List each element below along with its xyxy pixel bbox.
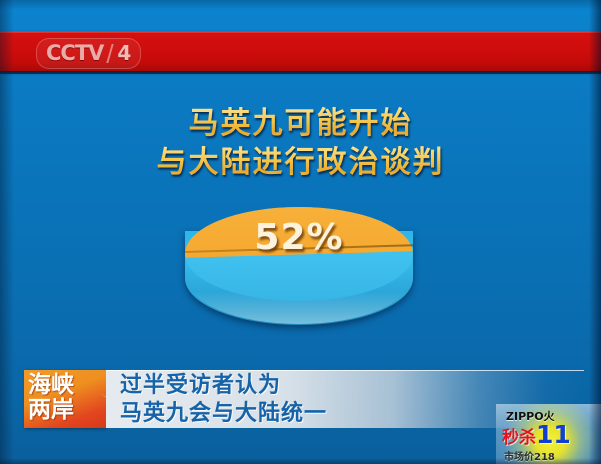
channel-number: 4	[117, 41, 131, 65]
cctv-channel-logo: CCTV 4	[36, 38, 141, 69]
ad-market-price: 市场价218	[504, 448, 555, 463]
band-highlight	[0, 31, 601, 33]
caption-line-1: 过半受访者认为	[120, 370, 584, 400]
ad-flash-sale-label: 秒杀	[502, 428, 536, 448]
page-title: 马英九可能开始 与大陆进行政治谈判	[0, 104, 601, 182]
pie-chart: 52%	[185, 207, 413, 325]
cctv-wordmark: CCTV	[46, 41, 103, 65]
ad-price-value: 11	[536, 420, 571, 449]
slash-icon	[107, 44, 114, 63]
overlay-advertisement[interactable]: ZIPPO火 秒杀11 市场价218	[496, 404, 601, 464]
program-logo: 海峡 两岸	[24, 370, 106, 428]
broadcast-screen: CCTV 4 马英九可能开始 与大陆进行政治谈判 52% 海峡 两岸 过半受访者…	[0, 0, 601, 464]
band-shadow	[0, 71, 601, 74]
headline-line-2: 与大陆进行政治谈判	[0, 143, 601, 182]
headline-line-1: 马英九可能开始	[0, 104, 601, 143]
ad-price-row: 秒杀11	[502, 422, 571, 447]
pie-percent-label: 52%	[185, 217, 413, 258]
